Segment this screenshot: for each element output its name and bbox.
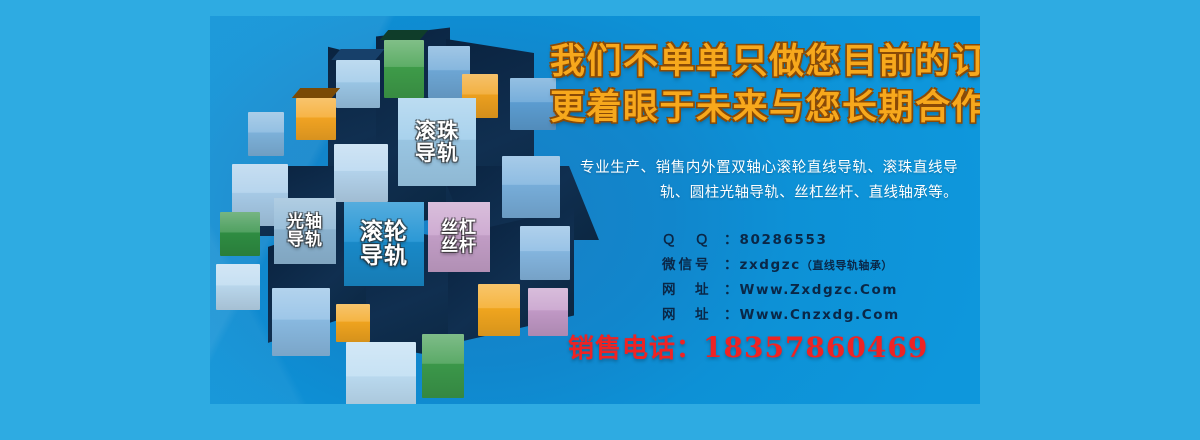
banner-stage: 滚珠 导轨 光轴 导轨 滚轮 导轨 丝杠 丝杆 我们不单单只做您目前的订单 更着…: [0, 0, 1200, 440]
cube-orange-bottom-right: [478, 284, 520, 336]
product-cube-label-line2: 丝杆: [441, 237, 477, 255]
product-cube-label-line2: 导轨: [287, 231, 323, 249]
cube-face-top: [331, 49, 384, 60]
cube-orange-upper: [296, 98, 336, 140]
cube-face-front: [334, 144, 388, 202]
cube-face-front: [296, 98, 336, 140]
contact-value-website-1[interactable]: Www.Zxdgzc.Com: [740, 282, 899, 298]
cube-pale-bottom-center: [346, 342, 416, 404]
contact-label-qq: Ｑ Ｑ: [662, 228, 724, 253]
cube-face-front: [216, 264, 260, 310]
product-cube-optical-axis[interactable]: 光轴 导轨: [274, 198, 336, 264]
promo-text-column: 我们不单单只做您目前的订单 更着眼于未来与您长期合作 专业生产、销售内外置双轴心…: [550, 16, 980, 404]
product-cube-ball-rail[interactable]: 滚珠 导轨: [398, 98, 476, 186]
cube-green-top: [384, 40, 424, 98]
product-cube-label-line1: 丝杠: [441, 219, 477, 237]
contact-row-qq: Ｑ Ｑ：80286553: [662, 228, 900, 253]
cube-pale-lower-left: [216, 264, 260, 310]
contact-label-wechat: 微信号: [662, 253, 724, 278]
contact-value-qq[interactable]: 80286553: [740, 232, 828, 248]
cube-face-front: [272, 288, 330, 356]
contact-label-website-1: 网 址: [662, 278, 724, 303]
contact-row-wechat: 微信号：zxdgzc（直线导轨轴承）: [662, 253, 900, 278]
sales-phone-number[interactable]: 18357860469: [703, 331, 928, 364]
cube-face-front: [336, 304, 370, 342]
product-cube-label-line2: 导轨: [415, 142, 459, 164]
description-line-1: 专业生产、销售内外置双轴心滚轮直线导轨、: [580, 160, 883, 176]
cube-face-front: [346, 342, 416, 404]
cube-face-front: [220, 212, 260, 256]
product-cube-roller-rail[interactable]: 滚轮 导轨: [344, 202, 424, 286]
cube-orange-lower: [336, 304, 370, 342]
contact-separator: ：: [724, 257, 738, 273]
contact-label-website-2: 网 址: [662, 303, 724, 328]
product-cube-lead-screw[interactable]: 丝杠 丝杆: [428, 202, 490, 272]
product-cube-label-line1: 滚轮: [360, 220, 408, 244]
cube-face-front: [248, 112, 284, 156]
cube-face-front: [422, 334, 464, 398]
contact-info-block: Ｑ Ｑ：80286553 微信号：zxdgzc（直线导轨轴承） 网 址：Www.…: [662, 228, 900, 328]
cube-green-bottom: [422, 334, 464, 398]
contact-row-website-2: 网 址：Www.Cnzxdg.Com: [662, 303, 900, 328]
description-line-3: 线轴承等。: [884, 185, 959, 201]
cube-face-front: [384, 40, 424, 98]
cube-blue-top-left: [336, 60, 380, 108]
cube-cluster-graphic: 滚珠 导轨 光轴 导轨 滚轮 导轨 丝杠 丝杆: [210, 16, 570, 404]
cube-pale-mid-center: [334, 144, 388, 202]
headline-line-2: 更着眼于未来与您长期合作: [550, 86, 980, 132]
cube-green-lower-left: [220, 212, 260, 256]
cube-face-front: [336, 60, 380, 108]
contact-separator: ：: [724, 232, 738, 248]
company-description: 专业生产、销售内外置双轴心滚轮直线导轨、滚珠直线导轨、圆柱光轴导轨、丝杠丝杆、直…: [580, 156, 958, 206]
contact-separator: ：: [724, 282, 738, 298]
sales-phone-line[interactable]: 销售电话：18357860469: [568, 328, 928, 365]
headline: 我们不单单只做您目前的订单 更着眼于未来与您长期合作: [550, 40, 980, 131]
product-cube-label-line2: 导轨: [360, 244, 408, 268]
product-cube-label-line1: 光轴: [287, 213, 323, 231]
contact-value-website-2[interactable]: Www.Cnzxdg.Com: [740, 307, 900, 323]
contact-value-wechat[interactable]: zxdgzc: [740, 257, 801, 273]
sales-phone-label: 销售电话：: [568, 334, 703, 364]
contact-separator: ：: [724, 307, 738, 323]
cube-face-front: [478, 284, 520, 336]
contact-row-website-1: 网 址：Www.Zxdgzc.Com: [662, 278, 900, 303]
cube-blue-lower-left2: [272, 288, 330, 356]
cube-face-top: [380, 30, 428, 40]
promo-banner-panel: 滚珠 导轨 光轴 导轨 滚轮 导轨 丝杠 丝杆 我们不单单只做您目前的订单 更着…: [210, 16, 980, 404]
contact-note-wechat: （直线导轨轴承）: [801, 259, 893, 272]
cube-face-top: [292, 88, 340, 98]
cube-blue-left-edge: [248, 112, 284, 156]
product-cube-label-line1: 滚珠: [415, 120, 459, 142]
headline-line-1: 我们不单单只做您目前的订单: [550, 40, 980, 86]
